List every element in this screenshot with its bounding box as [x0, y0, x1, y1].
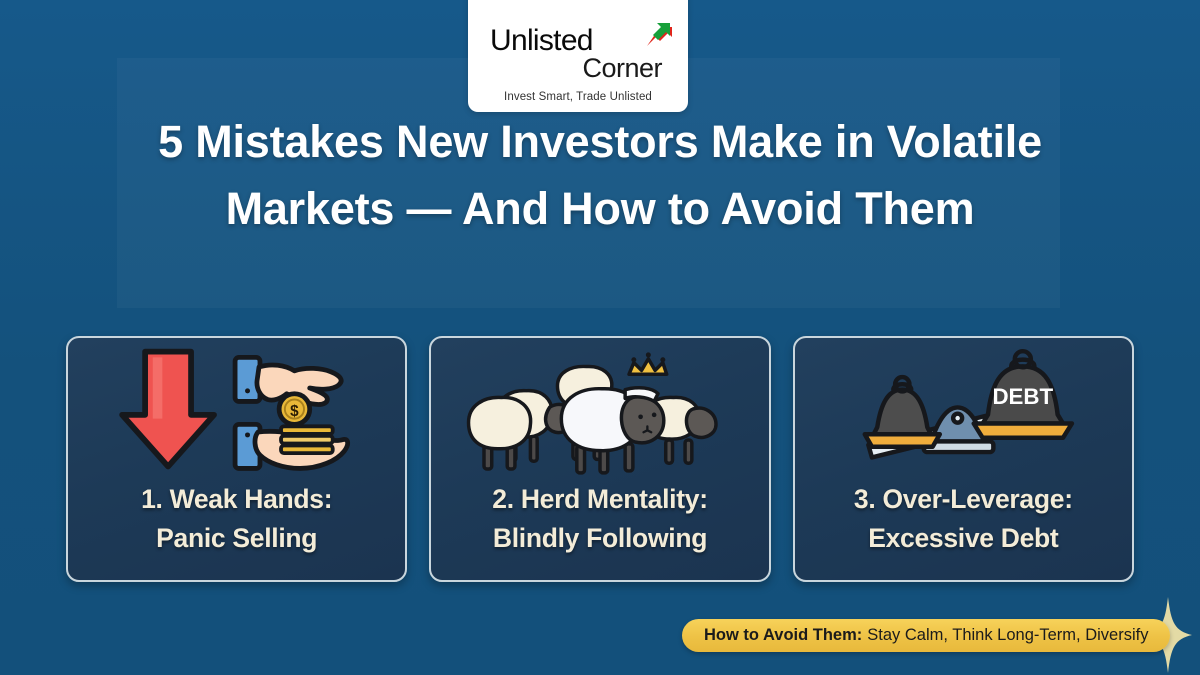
unbalanced-seesaw-scale-with-debt-weight-icon: DEBT [795, 338, 1132, 480]
logo-line1: Unlisted [490, 25, 593, 57]
brand-logo-plate: Unlisted Corner Invest Smart, Trade Unli… [468, 0, 688, 112]
sheep-flock-with-crowned-leader-icon [431, 338, 768, 480]
green-red-chevron-arrow-icon [644, 21, 678, 47]
page-title: 5 Mistakes New Investors Make in Volatil… [50, 108, 1150, 242]
mistake-card-herd-mentality[interactable]: 2. Herd Mentality: Blindly Following [429, 336, 770, 582]
mistake-card-over-leverage[interactable]: DEBT 3. Over-Leverage: Excessive Debt [793, 336, 1134, 582]
mistake-card-label: 3. Over-Leverage: Excessive Debt [795, 480, 1132, 558]
how-to-avoid-banner[interactable]: How to Avoid Them: Stay Calm, Think Long… [682, 619, 1170, 652]
logo-line2: Corner [582, 53, 662, 83]
mistake-card-label: 2. Herd Mentality: Blindly Following [431, 480, 768, 558]
logo-tagline: Invest Smart, Trade Unlisted [504, 91, 652, 103]
infographic-poster: Unlisted Corner Invest Smart, Trade Unli… [0, 0, 1200, 675]
mistake-card-label: 1. Weak Hands: Panic Selling [68, 480, 405, 558]
how-to-avoid-lead: How to Avoid Them: [704, 626, 862, 645]
svg-text:$: $ [290, 403, 299, 420]
debt-weight-label: DEBT [993, 384, 1054, 409]
logo-wordmark: Unlisted Corner [490, 25, 666, 87]
red-down-arrow-and-hands-exchanging-coins-icon: $ [68, 338, 405, 480]
mistake-cards-row: $ 1. Weak Hands: Panic Selling [66, 336, 1134, 582]
how-to-avoid-tips: Stay Calm, Think Long-Term, Diversify [867, 626, 1148, 645]
mistake-card-weak-hands[interactable]: $ 1. Weak Hands: Panic Selling [66, 336, 407, 582]
